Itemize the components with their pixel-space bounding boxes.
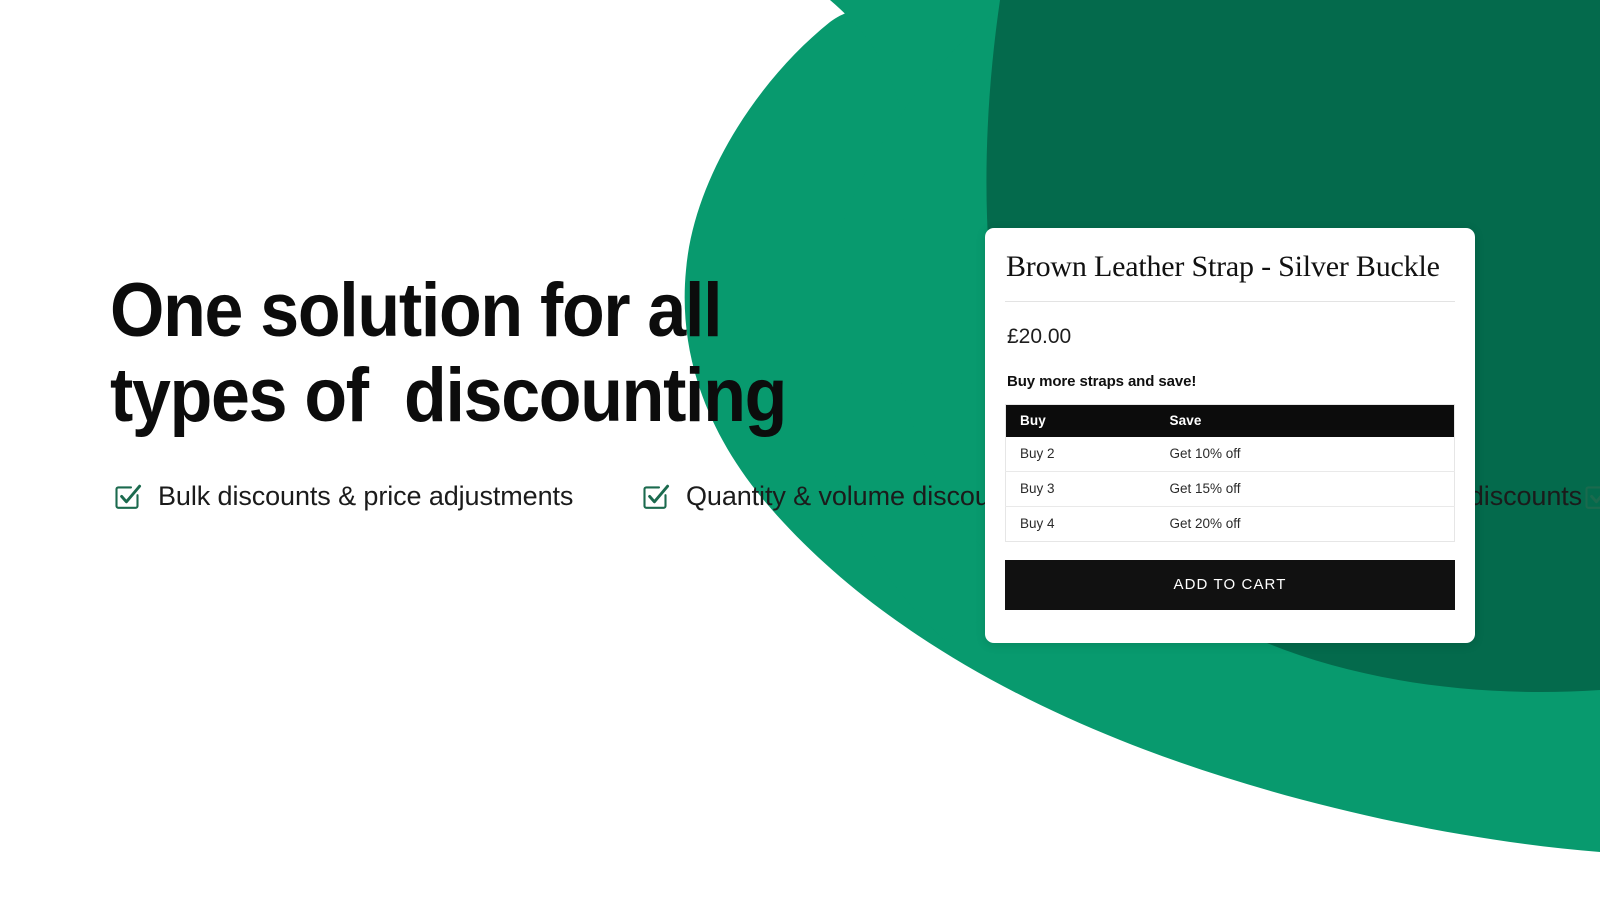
table-row: Buy 3 Get 15% off [1006, 471, 1455, 506]
page-title: One solution for all types of discountin… [110, 268, 938, 438]
discount-table: Buy Save Buy 2 Get 10% off Buy 3 Get 15%… [1005, 404, 1455, 542]
column-header-buy: Buy [1006, 404, 1156, 437]
table-row: Buy 2 Get 10% off [1006, 437, 1455, 472]
promo-note: Buy more straps and save! [1005, 373, 1455, 390]
column-header-save: Save [1156, 404, 1455, 437]
list-item: Flash sales [1582, 470, 1600, 522]
hero-text-panel: One solution for all types of discountin… [110, 268, 940, 438]
list-item: Quantity & volume discounts [640, 470, 1025, 522]
product-card: Brown Leather Strap - Silver Buckle £20.… [985, 228, 1475, 643]
list-item-label: Bulk discounts & price adjustments [158, 481, 573, 512]
table-header-row: Buy Save [1006, 404, 1455, 437]
cell-save: Get 20% off [1156, 506, 1455, 541]
list-item-label: Quantity & volume discounts [686, 481, 1025, 512]
table-row: Buy 4 Get 20% off [1006, 506, 1455, 541]
cell-save: Get 15% off [1156, 471, 1455, 506]
product-price: £20.00 [1005, 325, 1455, 349]
cell-buy: Buy 2 [1006, 437, 1156, 472]
checkbox-checked-icon [1582, 482, 1600, 512]
cell-save: Get 10% off [1156, 437, 1455, 472]
promo-banner: One solution for all types of discountin… [0, 0, 1600, 900]
feature-list: Bulk discounts & price adjustments Quant… [112, 470, 942, 522]
divider [1005, 301, 1455, 302]
checkbox-checked-icon [640, 482, 670, 512]
product-title: Brown Leather Strap - Silver Buckle [1005, 250, 1455, 285]
checkbox-checked-icon [112, 482, 142, 512]
add-to-cart-button[interactable]: ADD TO CART [1005, 560, 1455, 610]
list-item: Bulk discounts & price adjustments [112, 470, 640, 522]
cell-buy: Buy 4 [1006, 506, 1156, 541]
cell-buy: Buy 3 [1006, 471, 1156, 506]
